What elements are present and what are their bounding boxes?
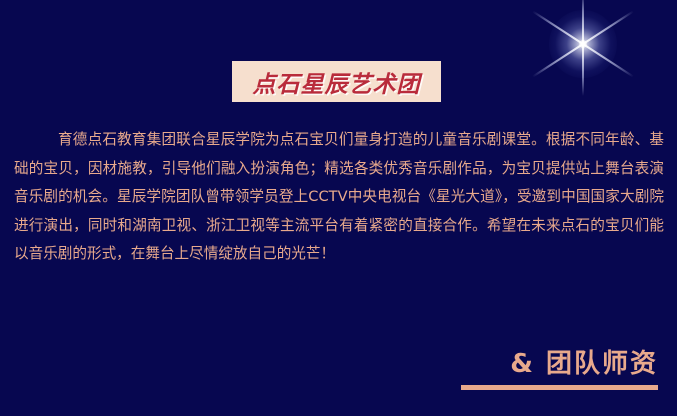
section-label-underline [461, 385, 658, 390]
section-label: & 团队师资 [461, 349, 658, 390]
sparkle-core [579, 40, 587, 48]
title-banner: 点石星辰艺术团 [232, 61, 441, 102]
slide-canvas: 点石星辰艺术团 育德点石教育集团联合星辰学院为点石宝贝们量身打造的儿童音乐剧课堂… [0, 0, 677, 416]
page-title: 点石星辰艺术团 [253, 65, 421, 99]
sparkle-glow [549, 10, 617, 78]
section-label-text: & 团队师资 [461, 349, 658, 379]
body-paragraph: 育德点石教育集团联合星辰学院为点石宝贝们量身打造的儿童音乐剧课堂。根据不同年龄、… [14, 126, 664, 269]
